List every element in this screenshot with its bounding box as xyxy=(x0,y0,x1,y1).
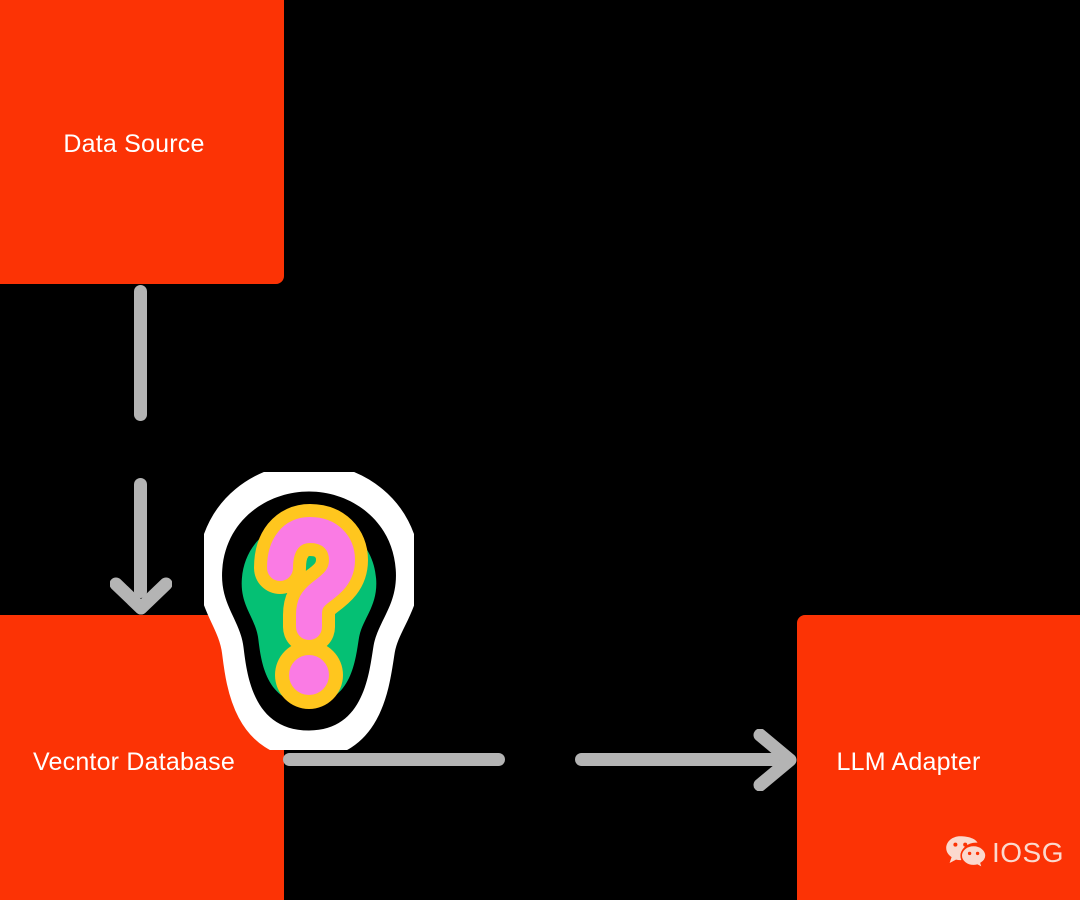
connector-segment-right xyxy=(575,753,780,766)
wechat-icon xyxy=(945,834,987,872)
question-mark-sticker[interactable]: ? xyxy=(204,472,414,750)
diagram-canvas: Data Source Vecntor Database LLM Adapter xyxy=(0,0,1080,900)
connector-segment-left xyxy=(283,753,505,766)
connector-segment-lower xyxy=(134,478,147,598)
connector-segment-upper xyxy=(134,285,147,421)
question-mark-sticker-graphic: ? xyxy=(204,472,414,750)
node-data-source-label: Data Source xyxy=(0,132,284,157)
watermark-iosg: IOSG xyxy=(945,832,1064,874)
watermark-label: IOSG xyxy=(992,839,1064,867)
arrowhead-right-icon xyxy=(752,729,802,791)
node-llm-adapter-label: LLM Adapter xyxy=(797,750,1020,775)
node-vector-database-label: Vecntor Database xyxy=(0,750,284,775)
node-llm-adapter[interactable]: LLM Adapter IOSG xyxy=(797,615,1080,900)
arrowhead-down-icon xyxy=(110,576,172,620)
node-data-source[interactable]: Data Source xyxy=(0,0,284,284)
